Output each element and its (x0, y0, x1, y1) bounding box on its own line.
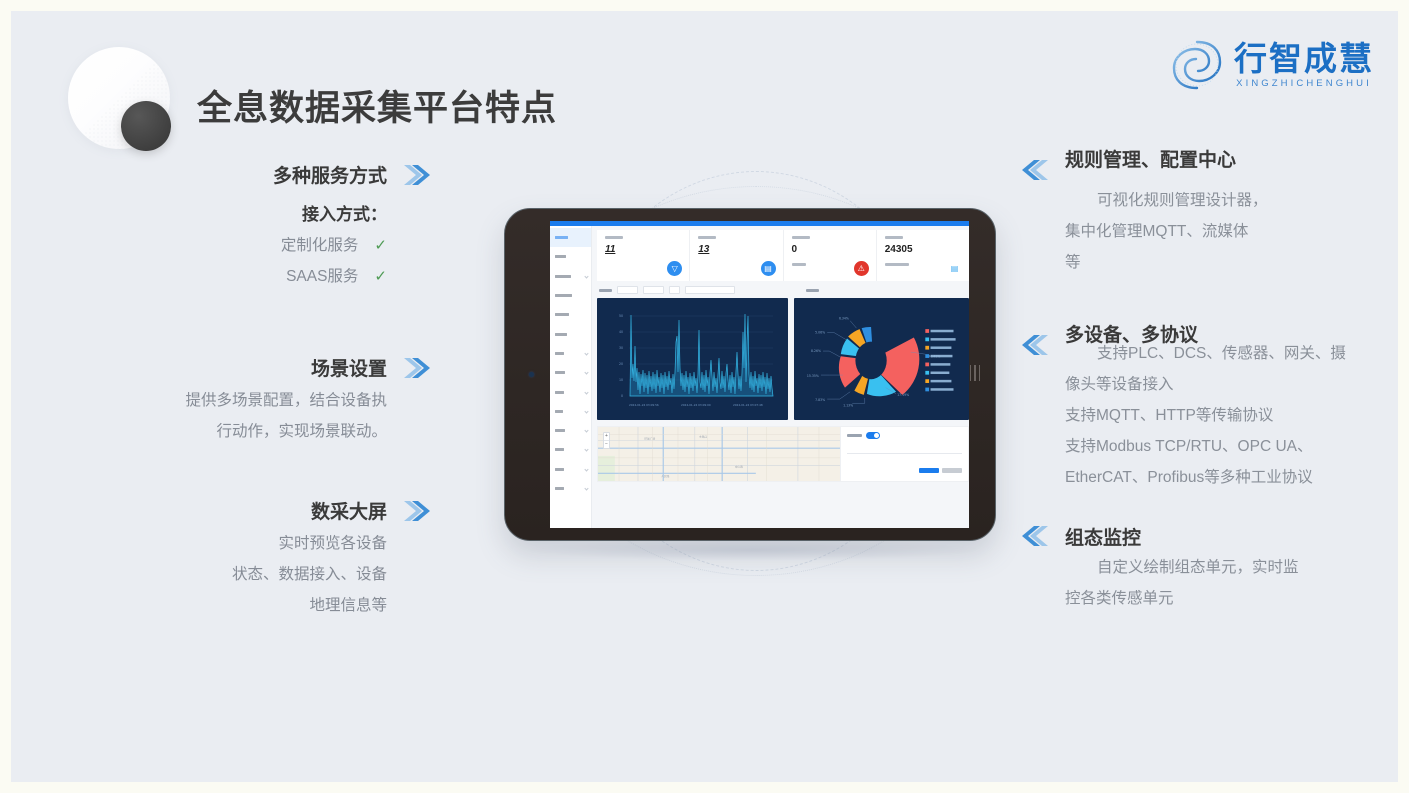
sidebar-item[interactable] (550, 344, 591, 363)
left-feature-column: 多种服务方式 接入方式： 定制化服务 ✓ SAAS服务 ✓ (161, 161, 431, 627)
feature-body: 实时预览各设备 状态、数据接入、设备 地理信息等 (161, 528, 431, 621)
sidebar-item[interactable] (550, 421, 591, 440)
svg-text:人民路: 人民路 (661, 474, 670, 478)
primary-button[interactable] (919, 468, 939, 473)
feature-body: 支持PLC、DCS、传感器、网关、摄 像头等设备接入 支持MQTT、HTTP等传… (1065, 338, 1398, 493)
toggle-switch[interactable] (866, 432, 880, 439)
feature-body-line: 等 (1065, 254, 1081, 271)
chevron-left-icon (1021, 519, 1051, 549)
feature-body-line: 支持PLC、DCS、传感器、网关、摄 (1065, 338, 1398, 369)
svg-text:6.34%: 6.34% (839, 317, 849, 321)
map-canvas[interactable]: 环球广场 主路口 中心路 人民路 + − (598, 427, 840, 481)
brand-name-cn: 行智成慧 (1234, 42, 1374, 75)
stat-label (792, 236, 810, 239)
chevron-right-icon (401, 162, 431, 188)
feature-subheading: 接入方式： (161, 200, 431, 225)
feature-body: 自定义绘制组态单元，实时监 控各类传感单元 (1065, 552, 1398, 614)
brand-name-en: XINGZHICHENGHUI (1234, 79, 1374, 89)
feature-body-line: 支持Modbus TCP/RTU、OPC UA、 (1065, 438, 1312, 455)
chevron-left-icon (1021, 316, 1051, 358)
svg-text:10: 10 (619, 378, 623, 382)
feature-body-line: 地理信息等 (161, 590, 387, 621)
page-title: 全息数据采集平台特点 (197, 80, 557, 131)
panel-input-field[interactable] (847, 445, 962, 454)
chevron-down-icon (584, 448, 588, 452)
sidebar-item[interactable] (550, 267, 591, 286)
feature-body-line: 像头等设备接入 (1065, 376, 1174, 393)
chevron-down-icon (584, 467, 588, 471)
tablet-device-mockup: 11 ▽ 13 ▤ 0 (504, 208, 996, 541)
swirl-logo-icon (1169, 37, 1225, 93)
map-zoom-controls[interactable]: + − (603, 432, 610, 449)
zoom-out-button[interactable]: − (604, 440, 609, 448)
filter-chip[interactable] (669, 286, 680, 294)
feature-body-line: 自定义绘制组态单元，实时监 (1065, 552, 1398, 583)
funnel-icon: ▽ (667, 261, 682, 276)
stat-card[interactable]: 24305 ▤ (877, 230, 969, 281)
feature-block-multi-device: 多设备、多协议 支持PLC、DCS、传感器、网关、摄 像头等设备接入 支持MQT… (1021, 316, 1398, 493)
filter-chip[interactable] (617, 286, 638, 294)
chevron-right-icon (401, 498, 431, 524)
map-panel: 环球广场 主路口 中心路 人民路 + − (597, 426, 969, 482)
sidebar-item[interactable] (550, 440, 591, 459)
svg-text:环球广场: 环球广场 (644, 437, 655, 441)
feature-title: 组态监控 (1065, 519, 1141, 550)
check-mark-icon: ✓ (374, 230, 387, 261)
svg-text:2024-01-24 03:09:00: 2024-01-24 03:09:00 (681, 403, 711, 407)
svg-text:中心路: 中心路 (735, 465, 744, 469)
sidebar-item[interactable] (550, 363, 591, 382)
feature-block-scene-settings: 场景设置 提供多场景配置，结合设备执 行动作，实现场景联动。 (161, 354, 431, 447)
svg-text:2024-01-24 03:09:56: 2024-01-24 03:09:56 (629, 403, 659, 407)
sidebar-item[interactable] (550, 460, 591, 479)
tablet-shadow (524, 539, 984, 561)
feature-block-service-modes: 多种服务方式 接入方式： 定制化服务 ✓ SAAS服务 ✓ (161, 161, 431, 292)
stat-value: 13 (698, 245, 774, 255)
slide-canvas: 全息数据采集平台特点 行智成慧 XINGZHICHENGHUI (11, 11, 1398, 782)
feature-block-data-screen: 数采大屏 实时预览各设备 状态、数据接入、设备 地理信息等 (161, 497, 431, 621)
chevron-right-icon (401, 355, 431, 381)
svg-text:40: 40 (619, 330, 623, 334)
chevron-down-icon (584, 351, 588, 355)
stat-card[interactable]: 11 ▽ (597, 230, 690, 281)
stat-card[interactable]: 13 ▤ (690, 230, 783, 281)
chevron-left-icon (1021, 141, 1051, 183)
sidebar-item[interactable] (550, 286, 591, 305)
svg-text:30: 30 (619, 346, 623, 350)
filter-chip[interactable] (643, 286, 664, 294)
device-icon: ▤ (761, 261, 776, 276)
stat-label (885, 236, 903, 239)
tablet-screen: 11 ▽ 13 ▤ 0 (550, 221, 969, 528)
panel-label (847, 434, 862, 437)
svg-text:0: 0 (621, 394, 623, 398)
svg-text:2024-01-24 03:07:48: 2024-01-24 03:07:48 (733, 403, 763, 407)
line-chart: 50 40 30 20 10 0 2024-0 (597, 298, 788, 420)
chevron-down-icon (584, 409, 588, 413)
chevron-down-icon (584, 428, 588, 432)
feature-body-line: 可视化规则管理设计器， (1065, 185, 1398, 216)
feature-block-rule-management: 规则管理、配置中心 可视化规则管理设计器， 集中化管理MQTT、流媒体 等 (1021, 141, 1398, 278)
access-mode-list: 定制化服务 ✓ SAAS服务 ✓ (161, 230, 431, 292)
stat-card[interactable]: 0 ⚠ (784, 230, 877, 281)
stat-card-row: 11 ▽ 13 ▤ 0 (597, 230, 969, 281)
feature-title: 多种服务方式 (273, 161, 387, 188)
svg-text:5.06%: 5.06% (815, 330, 825, 334)
chevron-down-icon (584, 371, 588, 375)
feature-body-line: 行动作，实现场景联动。 (161, 416, 387, 447)
feature-body-line: 实时预览各设备 (161, 528, 387, 559)
sidebar-item[interactable] (550, 479, 591, 498)
secondary-button[interactable] (942, 468, 962, 473)
check-mark-icon: ✓ (374, 261, 387, 292)
toolbar-label (806, 289, 819, 292)
feature-body: 提供多场景配置，结合设备执 行动作，实现场景联动。 (161, 385, 431, 447)
chevron-down-icon (584, 274, 588, 278)
feature-check-label: 定制化服务 (281, 230, 359, 261)
chart-row: 50 40 30 20 10 0 2024-0 (597, 298, 969, 420)
stat-label (698, 236, 716, 239)
alarm-icon: ⚠ (854, 261, 869, 276)
svg-text:20: 20 (619, 362, 623, 366)
feature-body-line: 控各类传感单元 (1065, 590, 1174, 607)
dashboard-sidebar[interactable] (550, 226, 592, 528)
svg-text:7.83%: 7.83% (815, 398, 825, 402)
list-item: SAAS服务 ✓ (161, 261, 387, 292)
svg-text:17.19%: 17.19% (897, 393, 909, 397)
stat-value: 11 (605, 245, 681, 255)
sidebar-item[interactable] (550, 228, 591, 247)
sidebar-item[interactable] (550, 247, 591, 266)
feature-title: 场景设置 (311, 354, 387, 381)
map-side-panel (840, 427, 968, 481)
feature-body-line: 提供多场景配置，结合设备执 (161, 385, 387, 416)
sidebar-item[interactable] (550, 324, 591, 343)
chevron-down-icon (584, 486, 588, 490)
feature-title: 规则管理、配置中心 (1065, 141, 1236, 172)
feature-check-label: SAAS服务 (286, 261, 358, 292)
pie-chart: 40.41% 17.19% 1.13% 7.83% 15.35% 8.26% 5… (794, 298, 969, 420)
feature-block-scada-monitoring: 组态监控 自定义绘制组态单元，实时监 控各类传感单元 (1021, 519, 1398, 614)
message-icon: ▤ (947, 261, 962, 276)
chevron-down-icon (584, 390, 588, 394)
tablet-bezel: 11 ▽ 13 ▤ 0 (504, 208, 996, 541)
sidebar-item[interactable] (550, 402, 591, 421)
speaker-grille-icon (970, 365, 981, 381)
svg-text:1.13%: 1.13% (843, 403, 853, 407)
feature-body-line: 集中化管理MQTT、流媒体 (1065, 223, 1248, 240)
list-item: 定制化服务 ✓ (161, 230, 387, 261)
date-range-picker[interactable] (685, 286, 735, 294)
stat-label (605, 236, 623, 239)
chart-toolbar (597, 281, 969, 298)
sidebar-item[interactable] (550, 382, 591, 401)
sidebar-item[interactable] (550, 305, 591, 324)
stat-subtext (792, 263, 806, 266)
svg-text:主路口: 主路口 (699, 435, 708, 439)
svg-text:8.26%: 8.26% (811, 349, 821, 353)
zoom-in-button[interactable]: + (604, 433, 609, 440)
feature-body-line: EtherCAT、Profibus等多种工业协议 (1065, 469, 1313, 486)
feature-body-line: 状态、数据接入、设备 (161, 559, 387, 590)
feature-title: 数采大屏 (311, 497, 387, 524)
svg-text:50: 50 (619, 314, 623, 318)
stat-value: 0 (792, 245, 868, 255)
feature-body-line: 支持MQTT、HTTP等传输协议 (1065, 407, 1273, 424)
svg-text:15.35%: 15.35% (807, 374, 819, 378)
stat-subtext (885, 263, 909, 266)
stat-value: 24305 (885, 245, 961, 255)
dashboard-main: 11 ▽ 13 ▤ 0 (592, 226, 969, 528)
feature-body: 可视化规则管理设计器， 集中化管理MQTT、流媒体 等 (1065, 185, 1398, 278)
right-feature-column: 规则管理、配置中心 可视化规则管理设计器， 集中化管理MQTT、流媒体 等 多设… (1021, 141, 1398, 618)
brand-logo: 行智成慧 XINGZHICHENGHUI (1169, 37, 1374, 93)
toolbar-label (599, 289, 612, 292)
decorative-dark-circle (121, 101, 171, 151)
